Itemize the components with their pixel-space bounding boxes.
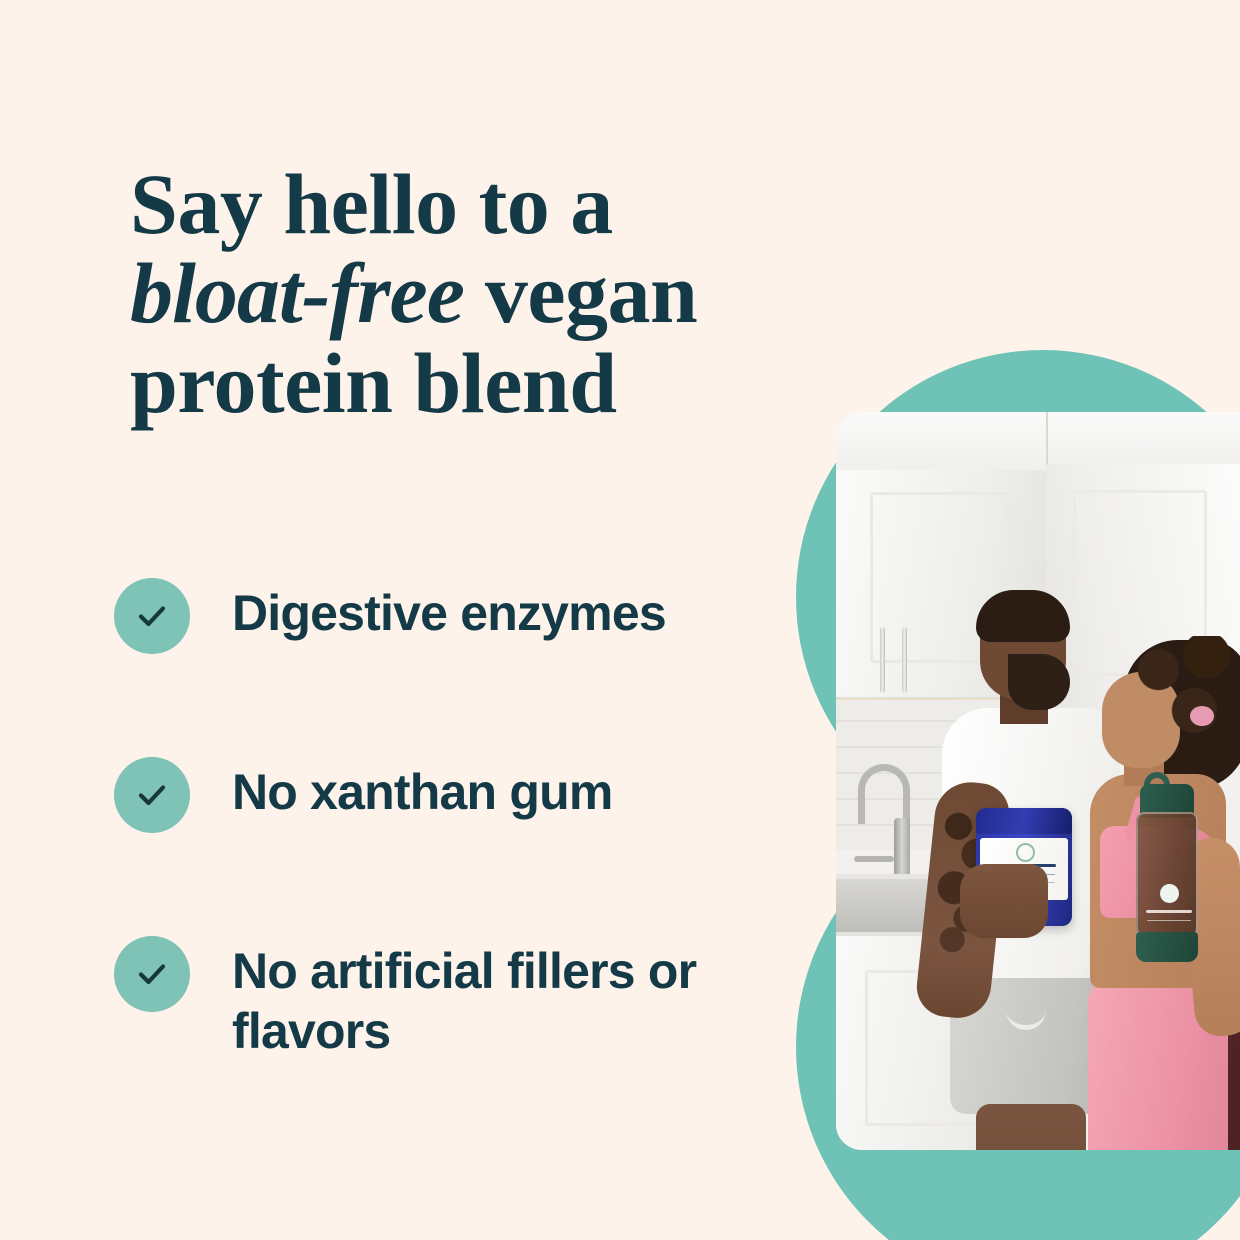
lifestyle-photo — [836, 412, 1240, 1150]
lifestyle-media — [760, 330, 1240, 1210]
drawstring — [1006, 990, 1046, 1030]
beard — [1008, 654, 1070, 710]
list-item: No artificial fillers or flavors — [114, 935, 814, 1061]
hand-holding-tub — [960, 864, 1048, 938]
faucet-neck — [858, 764, 910, 824]
headline-line-2-rest: vegan — [464, 245, 698, 341]
faucet-lever — [854, 856, 894, 862]
check-icon — [114, 936, 190, 1012]
headline-line-1: Say hello to a — [130, 160, 860, 249]
cabinet-handle — [902, 627, 907, 693]
cabinet-handle — [880, 627, 885, 693]
headline-line-2: bloat-free vegan — [130, 249, 860, 338]
benefit-label: No artificial fillers or flavors — [232, 935, 752, 1061]
scrunchie — [1190, 706, 1214, 726]
bottle-text — [1146, 910, 1192, 913]
leg — [976, 1104, 1086, 1150]
kitchen-scene — [836, 412, 1240, 1150]
benefit-label: No xanthan gum — [232, 756, 612, 822]
benefit-list: Digestive enzymes No xanthan gum No arti… — [114, 577, 814, 1061]
bottle-body — [1136, 812, 1198, 938]
curly-hair — [1132, 636, 1240, 756]
bottle-base — [1136, 932, 1198, 962]
headline-emphasis: bloat-free — [130, 245, 464, 341]
promo-card: Say hello to a bloat-free vegan protein … — [0, 0, 1240, 1240]
tub-lid — [976, 808, 1072, 834]
page-title: Say hello to a bloat-free vegan protein … — [130, 160, 860, 428]
headline-line-3: protein blend — [130, 339, 860, 428]
faucet-column — [894, 818, 910, 880]
check-icon — [114, 578, 190, 654]
shaker-bottle — [1136, 784, 1198, 960]
hair — [976, 590, 1070, 642]
benefit-label: Digestive enzymes — [232, 577, 666, 643]
list-item: Digestive enzymes — [114, 577, 814, 654]
bottle-emblem — [1160, 884, 1179, 903]
check-icon — [114, 757, 190, 833]
faucet — [858, 764, 914, 882]
list-item: No xanthan gum — [114, 756, 814, 833]
